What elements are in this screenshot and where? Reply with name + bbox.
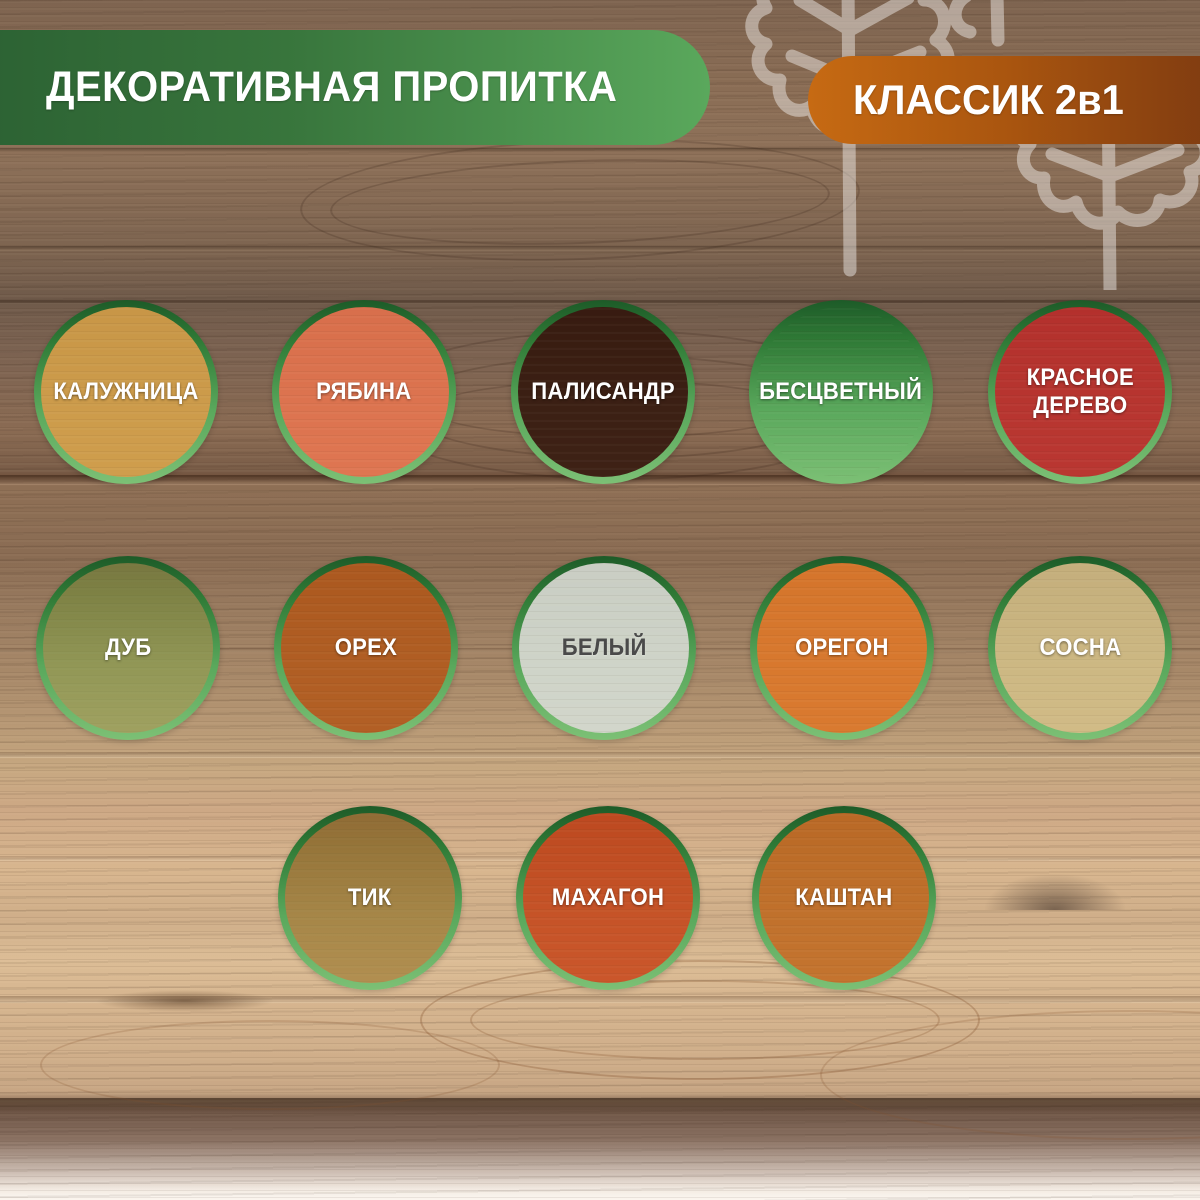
color-swatch[interactable]: БЕЛЫЙ (512, 556, 696, 740)
color-swatch[interactable]: ПАЛИСАНДР (511, 300, 695, 484)
color-swatch[interactable]: РЯБИНА (272, 300, 456, 484)
banner-decorative-impregnation: ДЕКОРАТИВНАЯ ПРОПИТКА (0, 30, 710, 145)
swatch-label: ОРЕХ (329, 634, 403, 662)
color-swatch[interactable]: БЕСЦВЕТНЫЙ (749, 300, 933, 484)
color-swatch[interactable]: ОРЕГОН (750, 556, 934, 740)
swatch-label: ДУБ (99, 634, 156, 662)
banner-primary-label: ДЕКОРАТИВНАЯ ПРОПИТКА (46, 63, 617, 112)
swatch-label: МАХАГОН (546, 884, 669, 912)
swatch-label: СОСНА (1034, 634, 1127, 662)
wood-knot-ring (40, 1020, 500, 1110)
color-swatch[interactable]: КРАСНОЕ ДЕРЕВО (988, 300, 1172, 484)
swatch-label: ПАЛИСАНДР (526, 378, 681, 406)
color-swatch[interactable]: СОСНА (988, 556, 1172, 740)
poster-canvas: ДЕКОРАТИВНАЯ ПРОПИТКА КЛАССИК 2в1 КАЛУЖН… (0, 0, 1200, 1200)
color-swatch[interactable]: ОРЕХ (274, 556, 458, 740)
color-swatch[interactable]: ТИК (278, 806, 462, 990)
swatch-label: ОРЕГОН (790, 634, 895, 662)
swatch-label: РЯБИНА (311, 378, 417, 406)
swatch-label: БЕСЦВЕТНЫЙ (754, 378, 928, 406)
color-swatch[interactable]: КАШТАН (752, 806, 936, 990)
swatch-label: КРАСНОЕ ДЕРЕВО (1021, 364, 1139, 420)
swatch-label: КАШТАН (790, 884, 898, 912)
banner-secondary-label: КЛАССИК 2в1 (853, 76, 1124, 124)
swatch-label: БЕЛЫЙ (556, 634, 652, 662)
swatch-label: КАЛУЖНИЦА (48, 378, 204, 406)
color-swatch[interactable]: ДУБ (36, 556, 220, 740)
banner-classic-2in1: КЛАССИК 2в1 (808, 56, 1200, 144)
wood-dark-spot (985, 874, 1125, 910)
plank-seam (0, 752, 1200, 758)
color-swatch[interactable]: КАЛУЖНИЦА (34, 300, 218, 484)
wood-dark-spot (95, 990, 275, 1012)
swatch-label: ТИК (343, 884, 398, 912)
color-swatch[interactable]: МАХАГОН (516, 806, 700, 990)
